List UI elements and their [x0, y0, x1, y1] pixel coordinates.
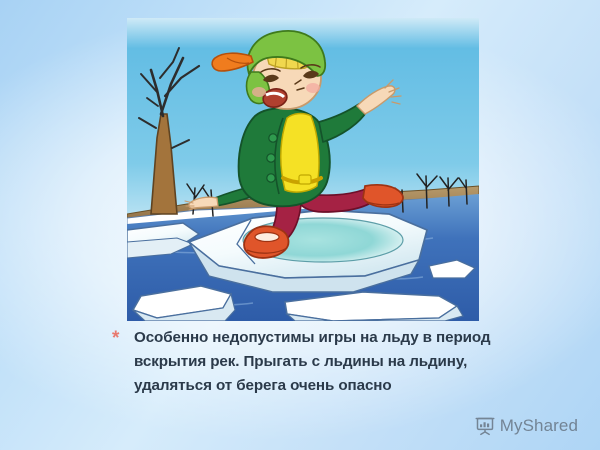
bullet-asterisk-icon: * — [112, 326, 134, 351]
myshared-logo[interactable]: MyShared — [475, 416, 578, 436]
slide-canvas: * Особенно недопустимы игры на льду в пе… — [0, 0, 600, 450]
illustration-svg — [127, 18, 479, 321]
presentation-board-icon — [475, 416, 495, 436]
myshared-label: MyShared — [500, 416, 578, 436]
caption-block: * Особенно недопустимы игры на льду в пе… — [112, 326, 532, 398]
illustration-image — [127, 18, 479, 321]
caption-text: Особенно недопустимы игры на льду в пери… — [134, 326, 532, 398]
